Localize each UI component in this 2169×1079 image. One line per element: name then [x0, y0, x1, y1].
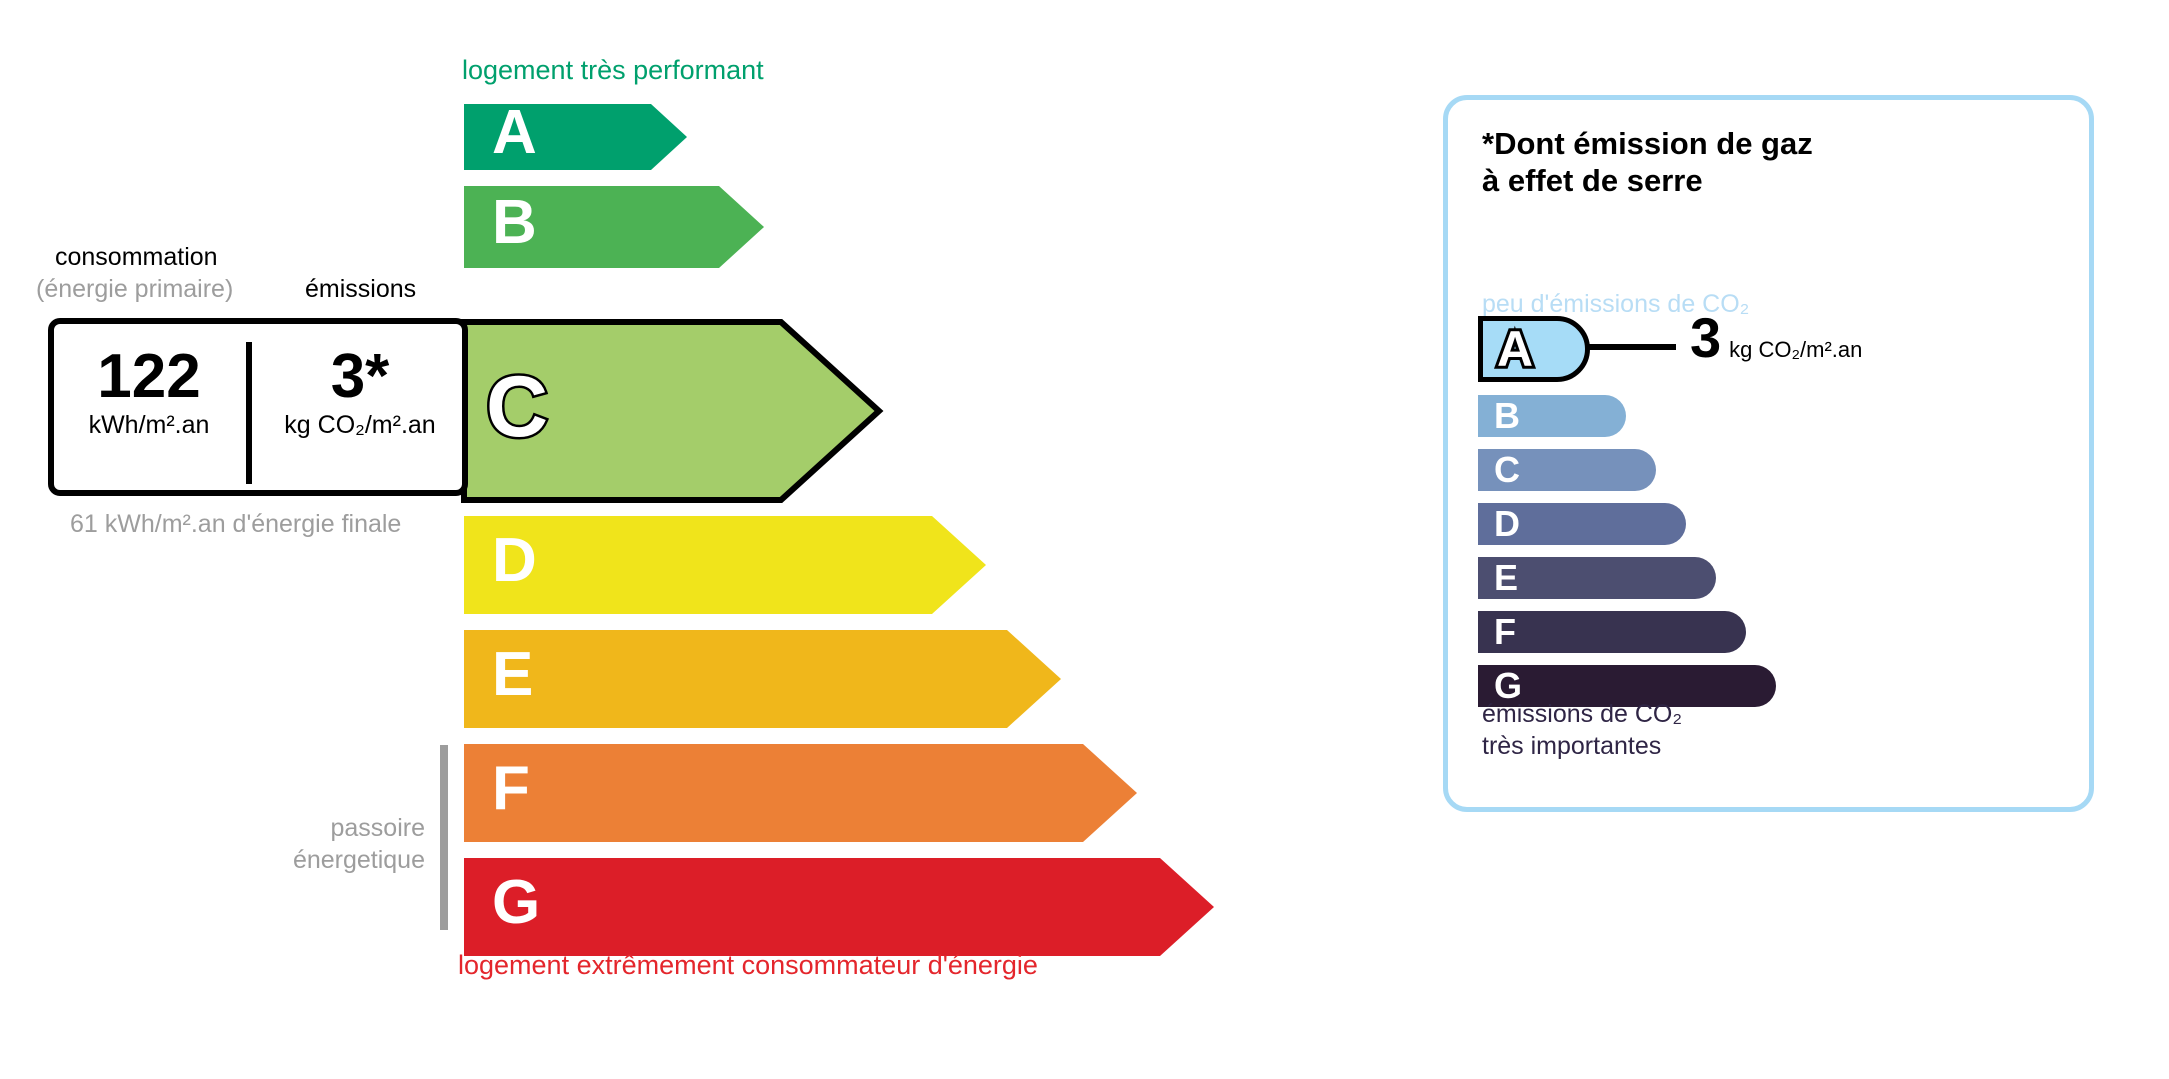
co2-bar-body-e: E — [1478, 557, 1716, 599]
energy-band-f: F — [460, 740, 1133, 838]
co2-value-readout: 3 kg CO₂/m².an — [1690, 310, 1862, 366]
co2-bar-letter-d: D — [1494, 506, 1520, 542]
co2-bar-body-a: A — [1478, 316, 1590, 382]
co2-bar-f: F — [1478, 611, 1746, 653]
co2-bar-body-b: B — [1478, 395, 1626, 437]
co2-emissions-panel: *Dont émission de gaz à effet de serre p… — [1443, 95, 2094, 812]
co2-leader-line — [1588, 344, 1676, 350]
band-body-e: E — [460, 626, 1057, 724]
band-letter-b: B — [492, 192, 537, 254]
energy-band-a: A — [460, 100, 683, 166]
primary-energy-metric: 122 kWh/m².an — [54, 344, 244, 440]
final-energy-note: 61 kWh/m².an d'énergie finale — [70, 508, 401, 540]
co2-value-unit: kg CO₂/m².an — [1729, 337, 1862, 363]
co2-bar-body-f: F — [1478, 611, 1746, 653]
energy-band-c: C — [460, 318, 875, 496]
consumption-readout-box: 122 kWh/m².an 3* kg CO₂/m².an — [48, 318, 468, 496]
co2-bar-a: A — [1478, 316, 1590, 382]
co2-bar-c: C — [1478, 449, 1656, 491]
band-letter-c: C — [486, 364, 548, 450]
band-body-f: F — [460, 740, 1133, 838]
passoire-label: passoire énergetique — [250, 812, 425, 876]
co2-bar-body-c: C — [1478, 449, 1656, 491]
band-letter-g: G — [492, 872, 540, 934]
co2-bar-letter-e: E — [1494, 560, 1518, 596]
emission-unit: kg CO₂/m².an — [252, 411, 468, 440]
co2-bar-e: E — [1478, 557, 1716, 599]
label-emissions: émissions — [305, 275, 416, 304]
band-body-a: A — [460, 100, 683, 166]
band-shape-d — [460, 512, 990, 618]
energy-band-g: G — [460, 854, 1210, 952]
energy-band-e: E — [460, 626, 1057, 724]
passoire-marker-bar — [440, 745, 448, 930]
label-consommation: consommation — [55, 243, 218, 272]
band-body-g: G — [460, 854, 1210, 952]
band-body-c: C — [460, 318, 875, 496]
band-shape-e — [460, 626, 1065, 732]
band-body-b: B — [460, 182, 760, 264]
band-shape-f — [460, 740, 1141, 846]
dpe-diagram: logement très performant ABCDEFG consomm… — [0, 0, 2169, 1079]
primary-energy-unit: kWh/m².an — [54, 411, 244, 440]
energy-performance-scale: logement très performant ABCDEFG consomm… — [0, 0, 1400, 1079]
co2-bar-d: D — [1478, 503, 1686, 545]
band-letter-e: E — [492, 644, 533, 706]
co2-panel-title: *Dont émission de gaz à effet de serre — [1482, 125, 1813, 199]
co2-bar-letter-b: B — [1494, 398, 1520, 434]
band-shape-g — [460, 854, 1218, 960]
band-letter-f: F — [492, 758, 530, 820]
co2-bar-letter-f: F — [1494, 614, 1516, 650]
label-energie-primaire: (énergie primaire) — [36, 275, 233, 304]
co2-bar-letter-a: A — [1497, 324, 1533, 374]
co2-bar-body-d: D — [1478, 503, 1686, 545]
emission-value: 3* — [252, 344, 468, 409]
energy-band-b: B — [460, 182, 760, 264]
scale-top-caption: logement très performant — [462, 55, 764, 86]
band-letter-a: A — [492, 102, 537, 164]
band-letter-d: D — [492, 530, 537, 592]
primary-energy-value: 122 — [54, 344, 244, 409]
co2-bar-b: B — [1478, 395, 1626, 437]
band-body-d: D — [460, 512, 982, 610]
co2-value-number: 3 — [1690, 310, 1721, 366]
scale-bottom-caption: logement extrêmement consommateur d'éner… — [458, 950, 1038, 981]
co2-bar-letter-c: C — [1494, 452, 1520, 488]
emission-metric: 3* kg CO₂/m².an — [252, 344, 468, 440]
energy-band-d: D — [460, 512, 982, 610]
co2-bottom-caption: émissions de CO₂ très importantes — [1482, 698, 1682, 762]
